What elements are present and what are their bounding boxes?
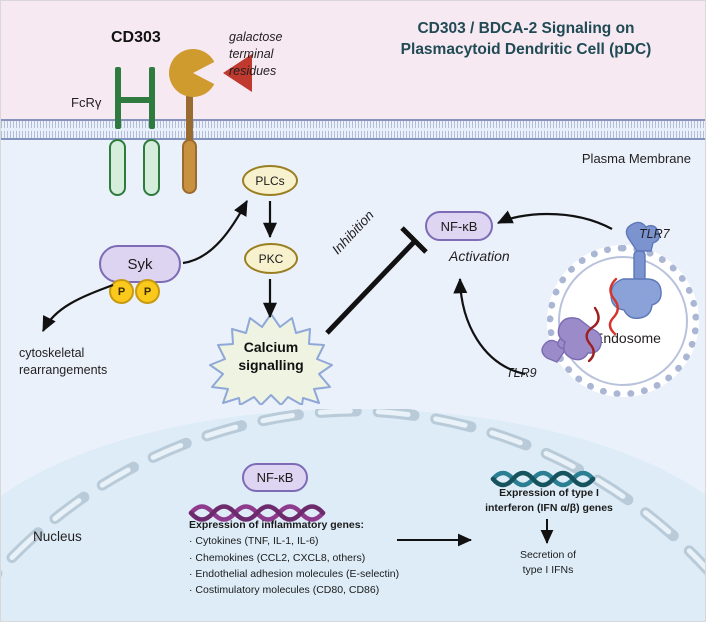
membrane-leaflet-inner (1, 131, 706, 140)
ifn-line-1: Expression of type I (459, 486, 639, 501)
list-item: Costimulatory molecules (CD80, CD86) (189, 582, 404, 598)
secretion-line-2: type I IFNs (487, 563, 609, 578)
calcium-signalling-burst: Calcium signalling (206, 313, 336, 405)
tlr9-label: TLR9 (506, 366, 537, 380)
ifn-line-2: interferon (IFN α/β) genes (459, 501, 639, 516)
syk-node[interactable]: Syk (99, 245, 181, 283)
fcr-gamma-label: FcRγ (71, 95, 101, 110)
nucleus-label: Nucleus (33, 529, 82, 544)
nfkb-nucleus-node[interactable]: NF-κB (242, 463, 308, 492)
galactose-residues-label: galactose terminal residues (229, 29, 319, 80)
title-line-1: CD303 / BDCA-2 Signaling on (361, 19, 691, 40)
inflammatory-genes-block: Expression of inflammatory genes: Cytoki… (189, 517, 404, 598)
list-item: Endothelial adhesion molecules (E-select… (189, 566, 404, 582)
nfkb-cytoplasm-node[interactable]: NF-κB (425, 211, 493, 241)
calcium-line-1: Calcium (206, 339, 336, 357)
endosome-inner-ring (558, 256, 688, 386)
plasma-membrane (1, 119, 706, 144)
diagram-canvas: CD303 / BDCA-2 Signaling on Plasmacytoid… (0, 0, 706, 622)
inflammatory-genes-list: Cytokines (TNF, IL-1, IL-6) Chemokines (… (189, 533, 404, 598)
page-title: CD303 / BDCA-2 Signaling on Plasmacytoid… (361, 19, 691, 61)
pkc-node[interactable]: PKC (244, 243, 298, 274)
cytoskeletal-rearrangements-label: cytoskeletal rearrangements (19, 345, 149, 379)
secretion-block: Secretion of type I IFNs (487, 548, 609, 577)
cd303-label: CD303 (111, 29, 161, 47)
fcr-tm-domain-right (143, 139, 160, 196)
calcium-burst-text: Calcium signalling (206, 339, 336, 374)
plcs-node[interactable]: PLCs (242, 165, 298, 196)
plasma-membrane-label: Plasma Membrane (582, 151, 691, 166)
list-item: Cytokines (TNF, IL-1, IL-6) (189, 533, 404, 549)
interferon-genes-block: Expression of type I interferon (IFN α/β… (459, 486, 639, 515)
cd303-tm-domain (182, 139, 197, 194)
calcium-line-2: signalling (206, 357, 336, 375)
endosome-vesicle (547, 245, 699, 397)
fcr-crossbar (115, 97, 155, 103)
activation-label: Activation (449, 248, 510, 264)
membrane-leaflet-outer (1, 119, 706, 128)
inflammatory-genes-header: Expression of inflammatory genes: (189, 517, 404, 533)
secretion-line-1: Secretion of (487, 548, 609, 563)
phospho-group-2: P (135, 279, 160, 304)
tlr7-label: TLR7 (639, 227, 670, 241)
title-line-2: Plasmacytoid Dendritic Cell (pDC) (361, 40, 691, 61)
phospho-group-1: P (109, 279, 134, 304)
fcr-tm-domain-left (109, 139, 126, 196)
list-item: Chemokines (CCL2, CXCL8, others) (189, 550, 404, 566)
endosome-label: Endosome (594, 330, 661, 346)
